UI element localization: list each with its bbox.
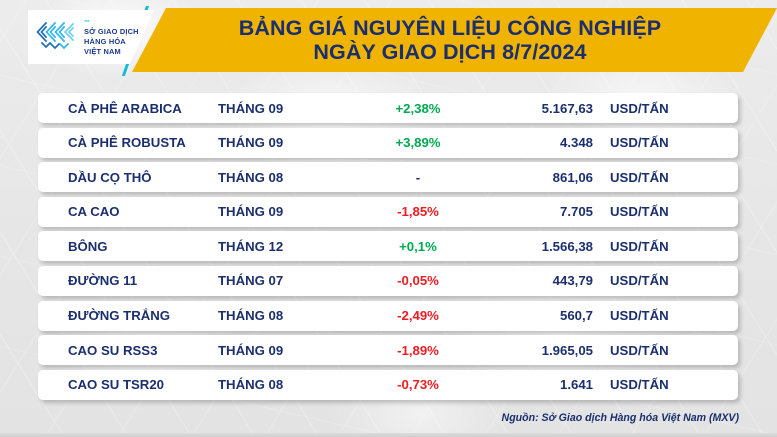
change-percent: -1,89% (358, 343, 478, 358)
commodity-name: ĐƯỜNG TRẮNG (38, 308, 218, 323)
table-row[interactable]: CAO SU RSS3THÁNG 09-1,89%1.965,05USD/TẤN (38, 335, 738, 365)
contract-month: THÁNG 12 (218, 239, 358, 254)
contract-month: THÁNG 09 (218, 343, 358, 358)
change-percent: -0,73% (358, 377, 478, 392)
contract-month: THÁNG 07 (218, 273, 358, 288)
price-value: 1.566,38 (478, 239, 593, 254)
price-value: 7.705 (478, 204, 593, 219)
table-row[interactable]: CÀ PHÊ ROBUSTATHÁNG 09+3,89%4.348USD/TẤN (38, 128, 738, 158)
commodity-name: CAO SU RSS3 (38, 343, 218, 358)
table-row[interactable]: CA CAOTHÁNG 09-1,85%7.705USD/TẤN (38, 197, 738, 227)
commodity-name: CÀ PHÊ ARABICA (38, 101, 218, 116)
contract-month: THÁNG 08 (218, 377, 358, 392)
commodity-name: BÔNG (38, 239, 218, 254)
table-row[interactable]: ĐƯỜNG TRẮNGTHÁNG 08-2,49%560,7USD/TẤN (38, 301, 738, 331)
mxv-maze-logo-icon (35, 20, 81, 54)
table-row[interactable]: CÀ PHÊ ARABICATHÁNG 09+2,38%5.167,63USD/… (38, 93, 738, 123)
change-percent: +3,89% (358, 135, 478, 150)
change-percent: +0,1% (358, 239, 478, 254)
change-percent: +2,38% (358, 101, 478, 116)
logo-line-2: HÀNG HÓA (84, 37, 126, 46)
change-percent: - (358, 170, 478, 185)
contract-month: THÁNG 09 (218, 204, 358, 219)
table-row[interactable]: DẦU CỌ THÔTHÁNG 08-861,06USD/TẤN (38, 162, 738, 192)
price-unit: USD/TẤN (593, 239, 703, 254)
contract-month: THÁNG 09 (218, 101, 358, 116)
logo-line-1: SỞ GIAO DỊCH (84, 27, 139, 36)
commodity-name: CA CAO (38, 204, 218, 219)
price-unit: USD/TẤN (593, 273, 703, 288)
page-title: BẢNG GIÁ NGUYÊN LIỆU CÔNG NGHIỆP NGÀY GI… (150, 8, 750, 72)
price-unit: USD/TẤN (593, 343, 703, 358)
commodity-price-table: CÀ PHÊ ARABICATHÁNG 09+2,38%5.167,63USD/… (38, 93, 738, 404)
contract-month: THÁNG 08 (218, 170, 358, 185)
change-percent: -0,05% (358, 273, 478, 288)
table-row[interactable]: CAO SU TSR20THÁNG 08-0,73%1.641USD/TẤN (38, 370, 738, 400)
price-value: 443,79 (478, 273, 593, 288)
commodity-name: DẦU CỌ THÔ (38, 170, 218, 185)
price-unit: USD/TẤN (593, 377, 703, 392)
price-value: 861,06 (478, 170, 593, 185)
trademark-symbol: ™ (84, 20, 90, 26)
title-trading-date: NGÀY GIAO DỊCH 8/7/2024 (313, 40, 586, 65)
page-header: ™ SỞ GIAO DỊCH HÀNG HÓA VIỆT NAM BẢNG GI… (0, 0, 777, 78)
price-value: 4.348 (478, 135, 593, 150)
change-percent: -2,49% (358, 308, 478, 323)
table-row[interactable]: ĐƯỜNG 11THÁNG 07-0,05%443,79USD/TẤN (38, 266, 738, 296)
price-unit: USD/TẤN (593, 135, 703, 150)
price-unit: USD/TẤN (593, 170, 703, 185)
contract-month: THÁNG 09 (218, 135, 358, 150)
title-primary: BẢNG GIÁ NGUYÊN LIỆU CÔNG NGHIỆP (239, 16, 661, 41)
commodity-name: CÀ PHÊ ROBUSTA (38, 135, 218, 150)
table-row[interactable]: BÔNGTHÁNG 12+0,1%1.566,38USD/TẤN (38, 231, 738, 261)
source-note: Nguồn: Sở Giao dịch Hàng hóa Việt Nam (M… (502, 412, 739, 424)
price-unit: USD/TẤN (593, 101, 703, 116)
price-unit: USD/TẤN (593, 308, 703, 323)
price-value: 560,7 (478, 308, 593, 323)
price-value: 5.167,63 (478, 101, 593, 116)
change-percent: -1,85% (358, 204, 478, 219)
price-value: 1.641 (478, 377, 593, 392)
commodity-name: ĐƯỜNG 11 (38, 273, 218, 288)
price-value: 1.965,05 (478, 343, 593, 358)
logo-wordmark: ™ SỞ GIAO DỊCH HÀNG HÓA VIỆT NAM (84, 17, 139, 57)
price-unit: USD/TẤN (593, 204, 703, 219)
logo-line-3: VIỆT NAM (84, 47, 121, 56)
contract-month: THÁNG 08 (218, 308, 358, 323)
commodity-name: CAO SU TSR20 (38, 377, 218, 392)
